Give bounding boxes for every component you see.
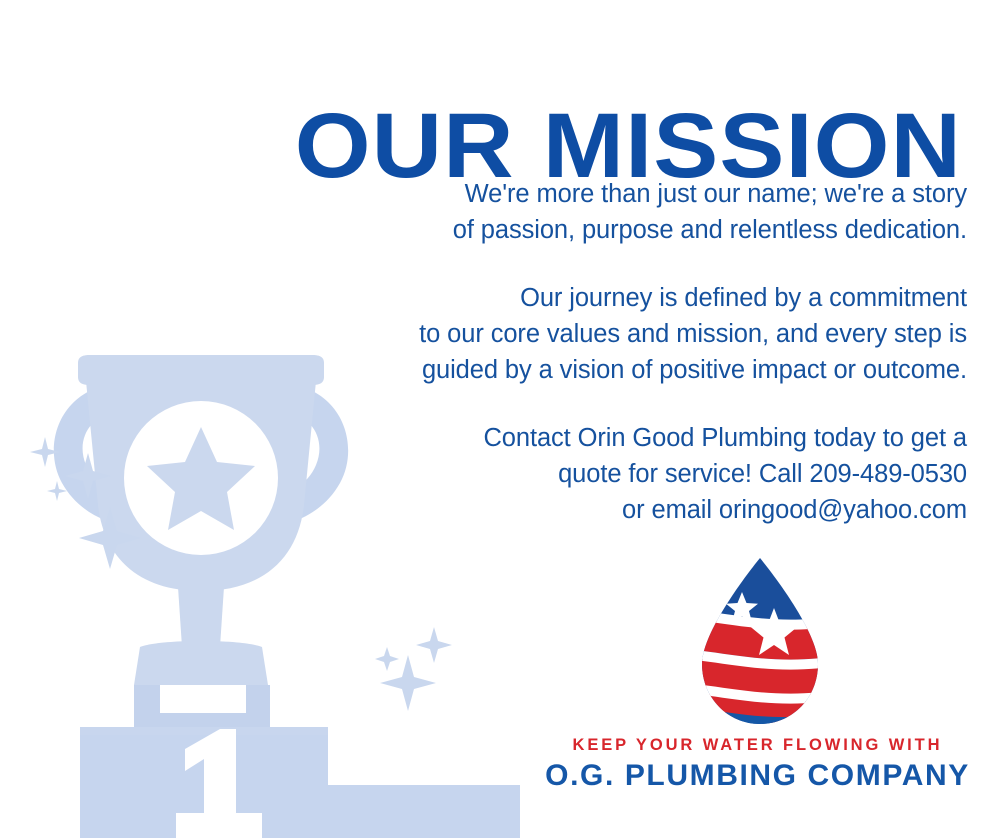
poster-canvas: OUR MISSION We're more than just our nam… bbox=[0, 0, 1000, 838]
sparkle-icon bbox=[47, 481, 67, 501]
sparkle-icon bbox=[30, 437, 60, 467]
sparkle-icon bbox=[79, 507, 141, 569]
copy-line: of passion, purpose and relentless dedic… bbox=[382, 212, 967, 248]
mission-copy: We're more than just our name; we're a s… bbox=[382, 176, 967, 528]
copy-line: Our journey is defined by a commitment bbox=[382, 280, 967, 316]
trophy-base bbox=[134, 641, 268, 685]
paragraph-intro: We're more than just our name; we're a s… bbox=[382, 176, 967, 248]
trophy-stem bbox=[178, 587, 224, 647]
sparkle-icon bbox=[65, 453, 111, 499]
paragraph-journey: Our journey is defined by a commitment t… bbox=[382, 280, 967, 388]
podium-block-first bbox=[80, 727, 328, 838]
trophy-handle-left bbox=[54, 383, 152, 526]
sparkle-icon bbox=[375, 647, 399, 671]
trophy-emblem-circle bbox=[124, 401, 278, 555]
copy-line-phone: quote for service! Call 209-489-0530 bbox=[382, 456, 967, 492]
trophy-emblem-star bbox=[147, 427, 255, 530]
company-logo-block: KEEP YOUR WATER FLOWING WITH O.G. PLUMBI… bbox=[545, 556, 970, 796]
podium-plaque bbox=[160, 685, 246, 713]
trophy-handle-right bbox=[250, 383, 348, 526]
podium-riser bbox=[134, 685, 270, 727]
podium-block-second bbox=[328, 785, 520, 838]
paragraph-contact: Contact Orin Good Plumbing today to get … bbox=[382, 420, 967, 528]
copy-line-email: or email oringood@yahoo.com bbox=[382, 492, 967, 528]
copy-line: We're more than just our name; we're a s… bbox=[382, 176, 967, 212]
copy-line: guided by a vision of positive impact or… bbox=[382, 352, 967, 388]
logo-tagline: KEEP YOUR WATER FLOWING WITH bbox=[545, 736, 970, 755]
copy-line: Contact Orin Good Plumbing today to get … bbox=[382, 420, 967, 456]
sparkle-icon bbox=[380, 655, 436, 711]
water-drop-flag-logo bbox=[690, 556, 830, 728]
trophy-rim bbox=[78, 355, 324, 385]
sparkle-icon bbox=[416, 627, 452, 663]
copy-line: to our core values and mission, and ever… bbox=[382, 316, 967, 352]
logo-company-name: O.G. PLUMBING COMPANY bbox=[545, 759, 970, 793]
podium-place-number bbox=[176, 729, 262, 838]
podium-shading bbox=[80, 727, 328, 735]
trophy-bowl bbox=[86, 381, 316, 591]
